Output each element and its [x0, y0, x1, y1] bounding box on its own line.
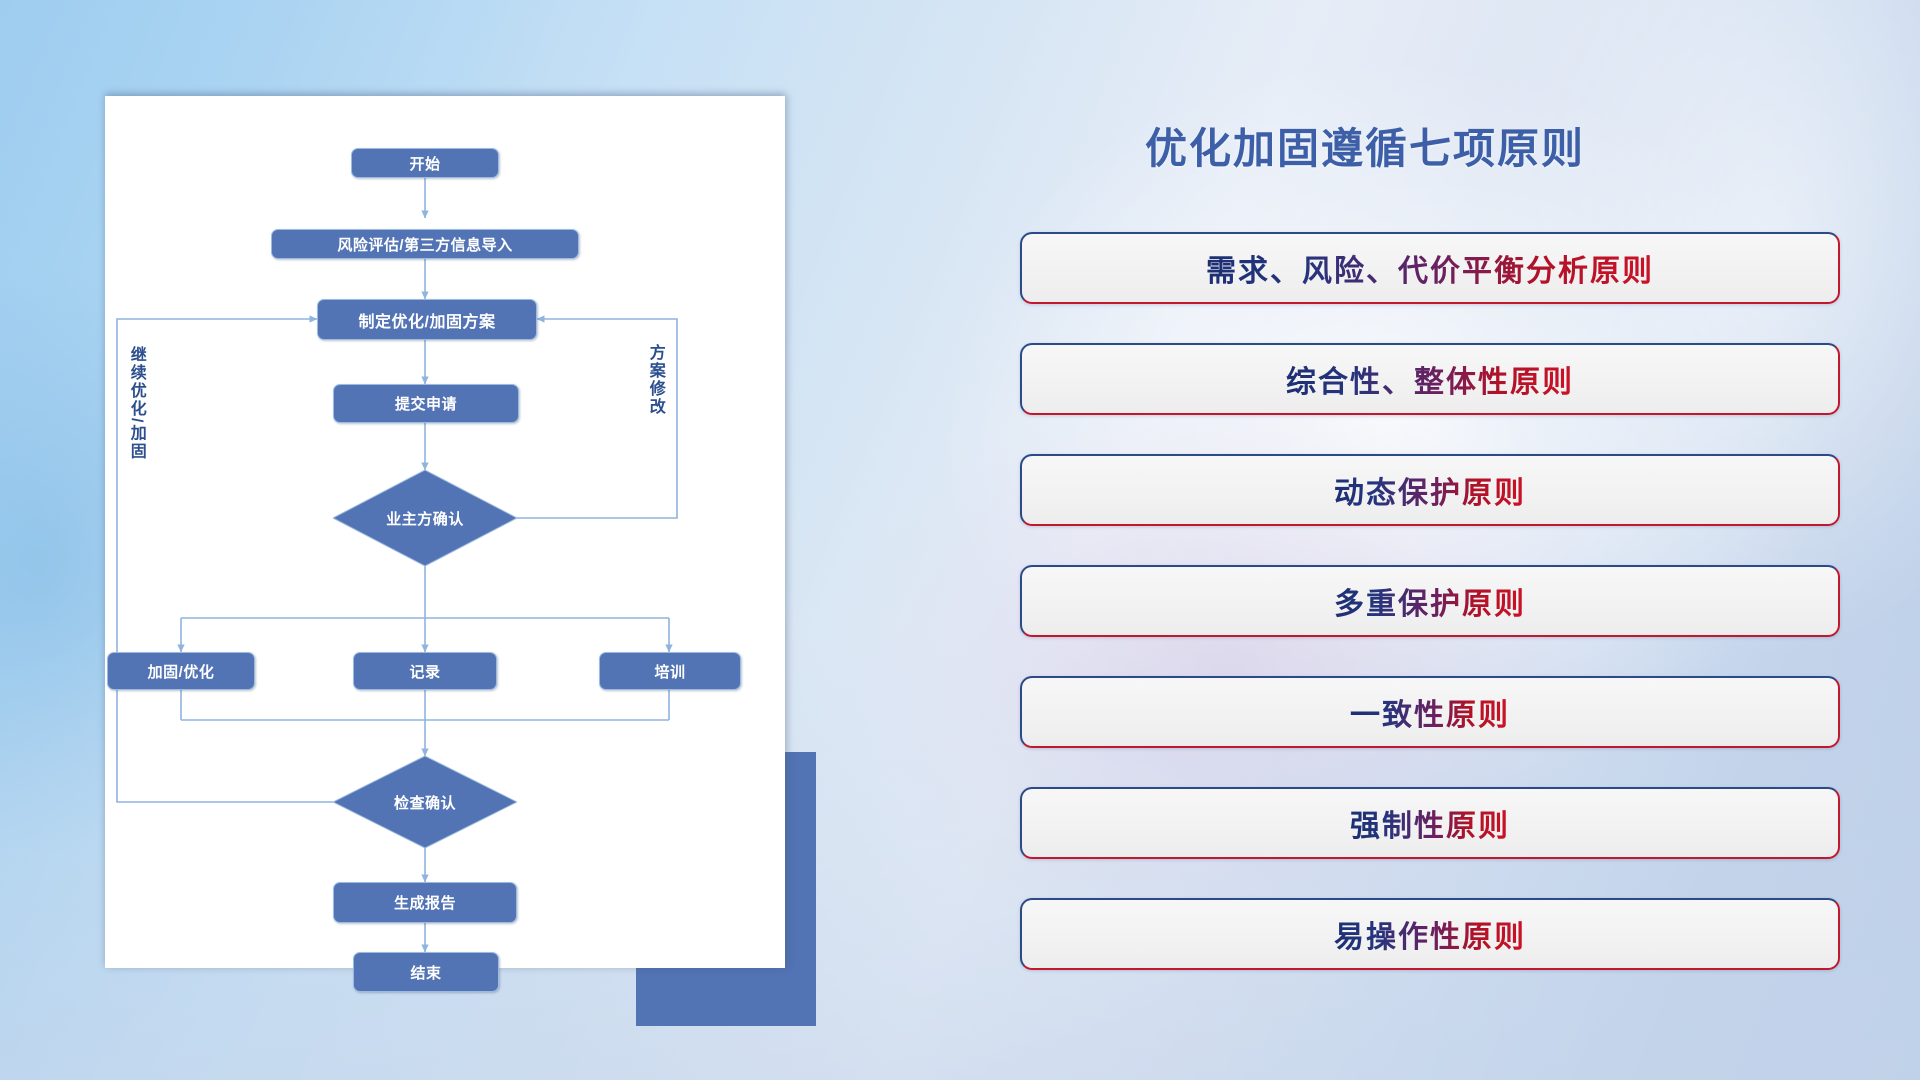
principles-section: 优化加固遵循七项原则 需求、风险、代价平衡分析原则 综合性、整体性原则 动态保护… [1020, 0, 1840, 1080]
principle-card-label: 需求、风险、代价平衡分析原则 [1206, 246, 1654, 290]
flow-node-generate-report[interactable]: 生成报告 [333, 882, 517, 923]
principle-card[interactable]: 一致性原则 [1020, 676, 1840, 748]
flow-node-start[interactable]: 开始 [351, 148, 499, 178]
flowchart-panel: 开始 风险评估/第三方信息导入 制定优化/加固方案 提交申请 业主方确认 加固/… [105, 96, 785, 968]
flow-node-check-confirm[interactable]: 检查确认 [333, 756, 517, 848]
principles-title: 优化加固遵循七项原则 [1145, 115, 1585, 176]
principle-card[interactable]: 动态保护原则 [1020, 454, 1840, 526]
flow-node-training[interactable]: 培训 [599, 652, 741, 690]
flow-node-plan[interactable]: 制定优化/加固方案 [317, 299, 537, 340]
principle-card[interactable]: 综合性、整体性原则 [1020, 343, 1840, 415]
principle-card[interactable]: 多重保护原则 [1020, 565, 1840, 637]
principle-card[interactable]: 易操作性原则 [1020, 898, 1840, 970]
principle-card-label: 易操作性原则 [1334, 912, 1526, 956]
flow-node-reinforce[interactable]: 加固/优化 [107, 652, 255, 690]
edge-label-continue-optimize: 继续优化/加固 [127, 346, 144, 526]
principles-list: 需求、风险、代价平衡分析原则 综合性、整体性原则 动态保护原则 多重保护原则 一… [1020, 232, 1840, 970]
principle-card-label: 动态保护原则 [1334, 468, 1526, 512]
principle-card-label: 一致性原则 [1350, 690, 1510, 734]
principle-card-label: 强制性原则 [1350, 801, 1510, 845]
principle-card[interactable]: 需求、风险、代价平衡分析原则 [1020, 232, 1840, 304]
edge-label-plan-revision: 方案修改 [646, 344, 663, 464]
flow-node-record[interactable]: 记录 [353, 652, 497, 690]
flow-node-check-confirm-label: 检查确认 [333, 756, 517, 848]
flow-node-risk-assessment[interactable]: 风险评估/第三方信息导入 [271, 229, 579, 259]
flow-node-owner-confirm-label: 业主方确认 [333, 470, 517, 566]
principle-card-label: 多重保护原则 [1334, 579, 1526, 623]
flowchart: 开始 风险评估/第三方信息导入 制定优化/加固方案 提交申请 业主方确认 加固/… [105, 96, 785, 968]
flow-node-end[interactable]: 结束 [353, 952, 499, 992]
principle-card[interactable]: 强制性原则 [1020, 787, 1840, 859]
flow-node-submit-application[interactable]: 提交申请 [333, 384, 519, 423]
flow-node-owner-confirm[interactable]: 业主方确认 [333, 470, 517, 566]
principle-card-label: 综合性、整体性原则 [1286, 357, 1574, 401]
